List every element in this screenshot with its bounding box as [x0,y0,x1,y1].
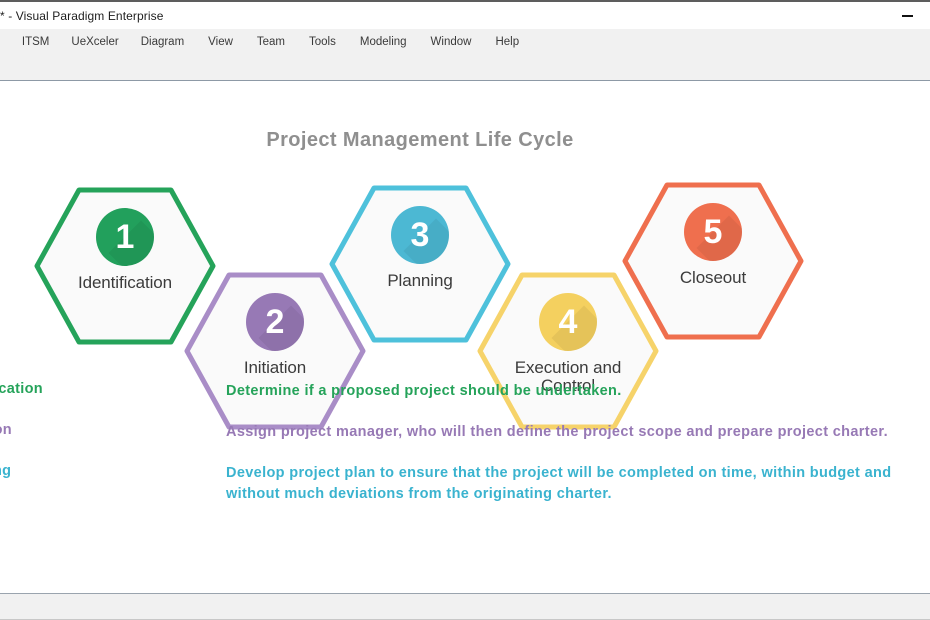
menu-item-view[interactable]: View [208,32,233,52]
stage-number-badge: 1 [96,208,154,266]
menu-item-team[interactable]: Team [257,32,285,52]
minimize-icon [902,15,913,17]
stage-number-badge: 3 [391,206,449,264]
legend-stage-name: itiation [0,422,226,438]
window-controls [884,2,930,29]
minimize-button[interactable] [884,2,930,29]
stage-number-badge: 2 [246,293,304,351]
menu-item-itsm[interactable]: ITSM [22,32,49,52]
menu-item-uexceler[interactable]: UeXceler [71,32,118,52]
stage-number-badge: 5 [684,203,742,261]
menu-item-diagram[interactable]: Diagram [141,32,184,52]
stage-number: 4 [559,303,578,342]
toolbar [0,55,930,81]
legend-row[interactable]: itiationAssign project manager, who will… [0,422,922,444]
stage-label: Initiation [183,359,367,377]
legend-stage-description: Determine if a proposed project should b… [226,381,906,403]
legend-stage-description: Develop project plan to ensure that the … [226,463,906,507]
application-window: * - Visual Paradigm Enterprise jectITSMU… [0,0,930,620]
hexagon-stage-5[interactable]: 5Closeout [621,181,805,341]
legend-list: entificationDetermine if a proposed proj… [0,381,922,525]
menu-item-modeling[interactable]: Modeling [360,32,407,52]
legend-row[interactable]: entificationDetermine if a proposed proj… [0,381,922,403]
diagram-title: Project Management Life Cycle [0,129,840,152]
stage-number: 5 [704,213,723,252]
legend-stage-description: Assign project manager, who will then de… [226,422,906,444]
legend-stage-name: anning [0,463,226,479]
diagram-canvas[interactable]: Project Management Life Cycle 1Identific… [0,81,930,620]
menu-item-window[interactable]: Window [431,32,472,52]
legend-row[interactable]: anningDevelop project plan to ensure tha… [0,463,922,507]
stage-number: 2 [266,303,285,342]
window-title: * - Visual Paradigm Enterprise [0,9,164,23]
menu-item-help[interactable]: Help [495,32,519,52]
status-bar [0,593,930,620]
legend-stage-name: entification [0,381,226,397]
title-bar: * - Visual Paradigm Enterprise [0,2,930,29]
stage-number-badge: 4 [539,293,597,351]
stage-number: 1 [116,218,135,257]
stage-number: 3 [411,216,430,255]
menu-bar: jectITSMUeXcelerDiagramViewTeamToolsMode… [0,29,930,55]
menu-item-tools[interactable]: Tools [309,32,336,52]
stage-label: Closeout [621,269,805,287]
